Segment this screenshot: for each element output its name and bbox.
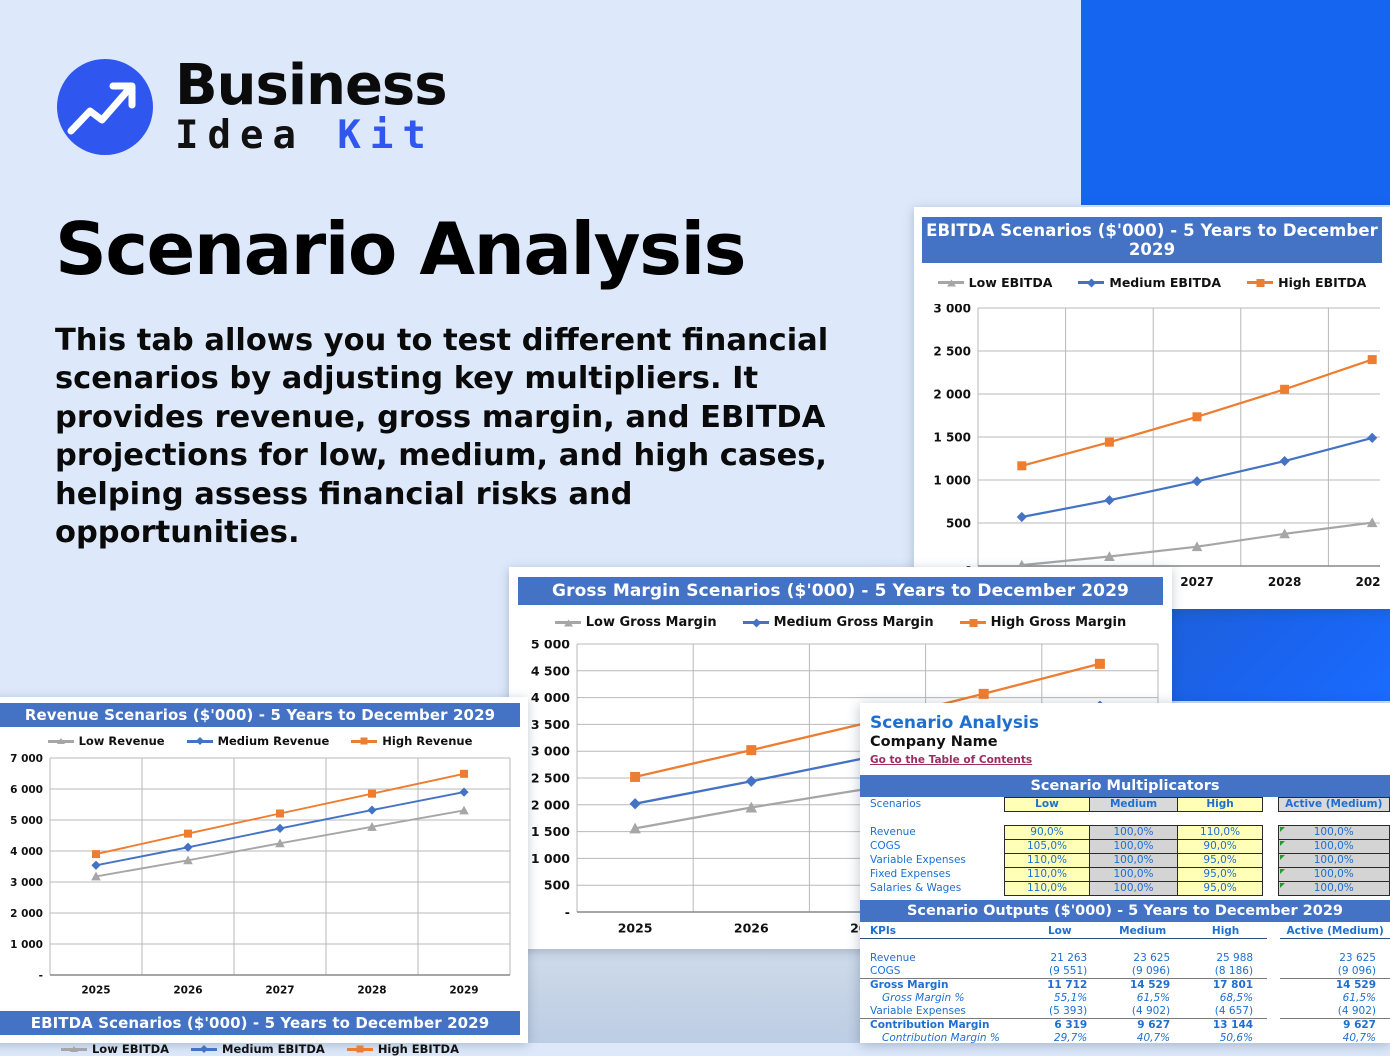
svg-text:2025: 2025 [81,985,110,997]
kpi-variable-expenses-medium: (4 902) [1101,1005,1184,1019]
table-row: Revenue 21 263 23 625 25 988 23 625 [860,952,1390,965]
page-title: Scenario Analysis [55,207,745,291]
legend-label-high: High EBITDA [378,1042,459,1056]
svg-text:4 500: 4 500 [531,663,570,678]
plot-area-revenue: 7 0006 0005 0004 0003 0002 0001 000-2025… [0,754,518,1007]
scenario-outputs-table: KPIs Low Medium High Active (Medium) Rev… [860,925,1390,1043]
diamond-marker-icon [752,618,761,627]
cell-fixed-expenses-active[interactable]: 100,0% [1278,868,1389,882]
kpi-variable-expenses-active: (4 902) [1280,1005,1390,1019]
legend-item-medium[interactable]: Medium Gross Margin [743,615,934,630]
svg-text:2026: 2026 [734,921,769,936]
svg-text:2 000: 2 000 [10,908,43,920]
cell-variable-expenses-medium[interactable]: 100,0% [1090,854,1177,868]
legend-label-high: High EBITDA [1278,275,1366,290]
cell-variable-expenses-active[interactable]: 100,0% [1278,854,1389,868]
svg-text:1 000: 1 000 [531,851,570,866]
kpi-contribution-margin-low: 6 319 [1018,1019,1101,1033]
chart-title-ebitda-top: EBITDA Scenarios ($'000) - 5 Years to De… [922,217,1382,263]
svg-text:2029: 2029 [449,985,478,997]
svg-text:1 500: 1 500 [933,430,971,444]
legend-label-low: Low EBITDA [92,1042,169,1056]
legend-item-low[interactable]: Low EBITDA [61,1042,169,1056]
cell-variable-expenses-high[interactable]: 95,0% [1177,854,1263,868]
kpi-variable-expenses-high: (4 657) [1184,1005,1267,1019]
multiplicators-row-label: Scenarios [860,798,1004,812]
table-row: Contribution Margin % 29,7% 40,7% 50,6% … [860,1032,1390,1043]
legend-item-high[interactable]: High EBITDA [347,1042,459,1056]
svg-text:3 500: 3 500 [531,717,570,732]
cell-fixed-expenses-high[interactable]: 95,0% [1177,868,1263,882]
legend-label-high: High Revenue [382,734,472,748]
cell-cogs-low[interactable]: 105,0% [1004,840,1090,854]
brand-name-secondary: Idea Kit [175,116,447,155]
kpi-revenue-low: 21 263 [1018,952,1101,965]
legend-item-low[interactable]: Low Gross Margin [555,615,717,630]
cell-cogs-medium[interactable]: 100,0% [1090,840,1177,854]
band-scenario-outputs: Scenario Outputs ($'000) - 5 Years to De… [860,900,1390,922]
legend-label-low: Low EBITDA [969,275,1053,290]
kpi-cogs-low: (9 551) [1018,965,1101,979]
cell-cogs-active[interactable]: 100,0% [1278,840,1389,854]
legend-item-high[interactable]: High EBITDA [1247,275,1366,290]
column-header-high[interactable]: High [1177,798,1263,812]
table-row: Variable Expenses (5 393) (4 902) (4 657… [860,1005,1390,1019]
svg-text:2 000: 2 000 [933,387,971,401]
svg-text:2028: 2028 [1268,575,1301,589]
svg-text:2 500: 2 500 [531,771,570,786]
column-header-medium[interactable]: Medium [1090,798,1177,812]
kpi-gross-margin-medium: 14 529 [1101,979,1184,993]
kpi-gross-margin-pct-low: 55,1% [1018,992,1101,1005]
legend-swatch-low [61,1048,87,1051]
cell-salaries-wages-active[interactable]: 100,0% [1278,882,1389,896]
kpi-gross-margin-low: 11 712 [1018,979,1101,993]
svg-text:1 000: 1 000 [933,473,971,487]
legend-item-low[interactable]: Low Revenue [48,734,165,748]
kpi-revenue-medium: 23 625 [1101,952,1184,965]
kpi-contribution-margin-active: 9 627 [1280,1019,1390,1033]
brand-idea-text: Idea [175,113,337,158]
legend-swatch-low [938,281,964,284]
table-row: Salaries & Wages 110,0% 100,0% 95,0% 100… [860,882,1390,896]
kpi-gross-margin-pct-high: 68,5% [1184,992,1267,1005]
row-label-fixed-expenses: Fixed Expenses [860,868,1004,882]
square-marker-icon [360,737,368,745]
svg-text:7 000: 7 000 [10,754,43,765]
triangle-marker-icon [70,1045,78,1053]
legend-item-medium[interactable]: Medium Revenue [187,734,330,748]
outputs-header-high: High [1184,925,1267,939]
cell-fixed-expenses-low[interactable]: 110,0% [1004,868,1090,882]
cell-variable-expenses-low[interactable]: 110,0% [1004,854,1090,868]
svg-text:3 000: 3 000 [531,744,570,759]
legend-item-high[interactable]: High Revenue [351,734,472,748]
svg-text:2 500: 2 500 [933,344,971,358]
outputs-header-medium: Medium [1101,925,1184,939]
cell-revenue-medium[interactable]: 100,0% [1090,826,1177,840]
kpi-gross-margin-pct-active: 61,5% [1280,992,1390,1005]
kpi-contribution-margin-medium: 9 627 [1101,1019,1184,1033]
svg-text:500: 500 [544,878,570,893]
row-label-revenue: Revenue [860,826,1004,840]
row-label-cogs: COGS [860,840,1004,854]
triangle-marker-icon [564,618,573,627]
table-of-contents-link[interactable]: Go to the Table of Contents [870,754,1032,766]
svg-text:2027: 2027 [1180,575,1213,589]
scenario-analysis-panel: Scenario Analysis Company Name Go to the… [860,703,1390,1043]
legend-label-high: High Gross Margin [991,615,1127,630]
table-row: COGS 105,0% 100,0% 90,0% 100,0% [860,840,1390,854]
kpi-contribution-margin-pct-active: 40,7% [1280,1032,1390,1043]
scenario-multiplicators-table: Scenarios Low Medium High Active (Medium… [860,797,1390,896]
table-row: Gross Margin % 55,1% 61,5% 68,5% 61,5% [860,992,1390,1005]
kpi-label-revenue: Revenue [860,952,1018,965]
chart-card-ebitda-top: EBITDA Scenarios ($'000) - 5 Years to De… [914,207,1390,609]
chart-legend-ebitda-top: Low EBITDA Medium EBITDA High EBITDA [914,275,1390,290]
kpi-label-gross-margin: Gross Margin [860,979,1018,993]
chart-legend-ebitda-bottom: Low EBITDA Medium EBITDA High EBITDA [0,1042,528,1056]
legend-swatch-low [555,621,581,624]
chart-legend-revenue: Low Revenue Medium Revenue High Revenue [0,734,528,748]
kpi-cogs-medium: (9 096) [1101,965,1184,979]
triangle-marker-icon [947,278,956,287]
legend-label-medium: Medium EBITDA [1109,275,1221,290]
svg-text:3 000: 3 000 [933,304,971,315]
kpi-contribution-margin-pct-low: 29,7% [1018,1032,1101,1043]
diamond-marker-icon [196,737,204,745]
legend-swatch-medium [191,1048,217,1051]
diamond-marker-icon [1087,278,1096,287]
svg-text:2028: 2028 [357,985,386,997]
kpi-revenue-active: 23 625 [1280,952,1390,965]
legend-swatch-low [48,740,74,743]
cell-revenue-low[interactable]: 90,0% [1004,826,1090,840]
kpi-gross-margin-pct-medium: 61,5% [1101,992,1184,1005]
table-row: Gross Margin 11 712 14 529 17 801 14 529 [860,979,1390,993]
brand-name-primary: Business [175,58,447,114]
sheet-company-name: Company Name [870,734,1390,750]
kpi-label-variable-expenses: Variable Expenses [860,1005,1018,1019]
growth-arrow-icon [57,59,153,155]
table-header-row: Scenarios Low Medium High Active (Medium… [860,798,1390,812]
legend-label-low: Low Revenue [79,734,165,748]
plot-area-ebitda-top: 3 0002 5002 0001 5001 000500-20252026202… [924,304,1380,604]
legend-swatch-medium [743,621,769,624]
kpi-contribution-margin-pct-medium: 40,7% [1101,1032,1184,1043]
svg-text:1 500: 1 500 [531,824,570,839]
legend-item-medium[interactable]: Medium EBITDA [1078,275,1221,290]
triangle-marker-icon [57,737,65,745]
chart-title-ebitda-bottom: EBITDA Scenarios ($'000) - 5 Years to De… [0,1011,520,1035]
cell-revenue-high[interactable]: 110,0% [1177,826,1263,840]
legend-label-medium: Medium Revenue [218,734,330,748]
outputs-header-kpis: KPIs [860,925,1018,939]
legend-label-medium: Medium Gross Margin [774,615,934,630]
kpi-label-gross-margin-pct: Gross Margin % [860,992,1018,1005]
legend-swatch-high [960,621,986,624]
column-header-active[interactable]: Active (Medium) [1278,798,1389,812]
svg-text:5 000: 5 000 [10,815,43,827]
band-scenario-multiplicators: Scenario Multiplicators [860,775,1390,797]
decorative-block-top-right [1081,0,1390,205]
svg-text:2025: 2025 [618,921,653,936]
kpi-cogs-high: (8 186) [1184,965,1267,979]
kpi-label-contribution-margin-pct: Contribution Margin % [860,1032,1018,1043]
outputs-header-active: Active (Medium) [1280,925,1390,939]
cell-salaries-wages-high[interactable]: 95,0% [1177,882,1263,896]
brand-kit-text: Kit [337,113,434,158]
legend-item-medium[interactable]: Medium EBITDA [191,1042,325,1056]
table-row: Contribution Margin 6 319 9 627 13 144 9… [860,1019,1390,1033]
square-marker-icon [356,1045,364,1053]
table-row: Revenue 90,0% 100,0% 110,0% 100,0% [860,826,1390,840]
svg-text:3 000: 3 000 [10,877,43,889]
legend-label-medium: Medium EBITDA [222,1042,325,1056]
kpi-label-cogs: COGS [860,965,1018,979]
legend-swatch-medium [1078,281,1104,284]
kpi-label-contribution-margin: Contribution Margin [860,1019,1018,1033]
svg-text:2026: 2026 [173,985,202,997]
kpi-revenue-high: 25 988 [1184,952,1267,965]
table-row: COGS (9 551) (9 096) (8 186) (9 096) [860,965,1390,979]
cell-revenue-active[interactable]: 100,0% [1278,826,1389,840]
square-marker-icon [1256,278,1265,287]
svg-text:2029: 2029 [1355,575,1380,589]
cell-salaries-wages-medium[interactable]: 100,0% [1090,882,1177,896]
kpi-gross-margin-active: 14 529 [1280,979,1390,993]
diamond-marker-icon [200,1045,208,1053]
svg-text:4 000: 4 000 [531,690,570,705]
table-row: Fixed Expenses 110,0% 100,0% 95,0% 100,0… [860,868,1390,882]
cell-cogs-high[interactable]: 90,0% [1177,840,1263,854]
square-marker-icon [969,618,978,627]
legend-swatch-high [347,1048,373,1051]
kpi-variable-expenses-low: (5 393) [1018,1005,1101,1019]
row-label-variable-expenses: Variable Expenses [860,854,1004,868]
chart-title-revenue: Revenue Scenarios ($'000) - 5 Years to D… [0,703,520,727]
chart-card-revenue: Revenue Scenarios ($'000) - 5 Years to D… [0,697,528,1043]
svg-text:1 000: 1 000 [10,939,43,951]
kpi-contribution-margin-high: 13 144 [1184,1019,1267,1033]
legend-swatch-high [351,740,377,743]
legend-item-low[interactable]: Low EBITDA [938,275,1053,290]
legend-item-high[interactable]: High Gross Margin [960,615,1127,630]
sheet-title: Scenario Analysis [870,713,1390,733]
outputs-header-row: KPIs Low Medium High Active (Medium) [860,925,1390,939]
chart-legend-gross-margin: Low Gross Margin Medium Gross Margin Hig… [509,615,1172,630]
page-description: This tab allows you to test different fi… [55,322,855,553]
table-row: Variable Expenses 110,0% 100,0% 95,0% 10… [860,854,1390,868]
svg-text:500: 500 [946,516,971,530]
cell-fixed-expenses-medium[interactable]: 100,0% [1090,868,1177,882]
svg-text:4 000: 4 000 [10,846,43,858]
svg-text:5 000: 5 000 [531,640,570,652]
column-header-low[interactable]: Low [1004,798,1090,812]
chart-title-gross-margin: Gross Margin Scenarios ($'000) - 5 Years… [518,577,1163,605]
svg-text:6 000: 6 000 [10,784,43,796]
cell-salaries-wages-low[interactable]: 110,0% [1004,882,1090,896]
legend-swatch-high [1247,281,1273,284]
outputs-header-low: Low [1018,925,1101,939]
brand-logo: Business Idea Kit [57,58,447,155]
svg-text:-: - [39,970,43,982]
svg-text:-: - [565,905,570,920]
legend-label-low: Low Gross Margin [586,615,717,630]
kpi-gross-margin-high: 17 801 [1184,979,1267,993]
svg-text:2 000: 2 000 [531,797,570,812]
svg-text:2027: 2027 [265,985,294,997]
kpi-cogs-active: (9 096) [1280,965,1390,979]
legend-swatch-medium [187,740,213,743]
row-label-salaries-wages: Salaries & Wages [860,882,1004,896]
kpi-contribution-margin-pct-high: 50,6% [1184,1032,1267,1043]
